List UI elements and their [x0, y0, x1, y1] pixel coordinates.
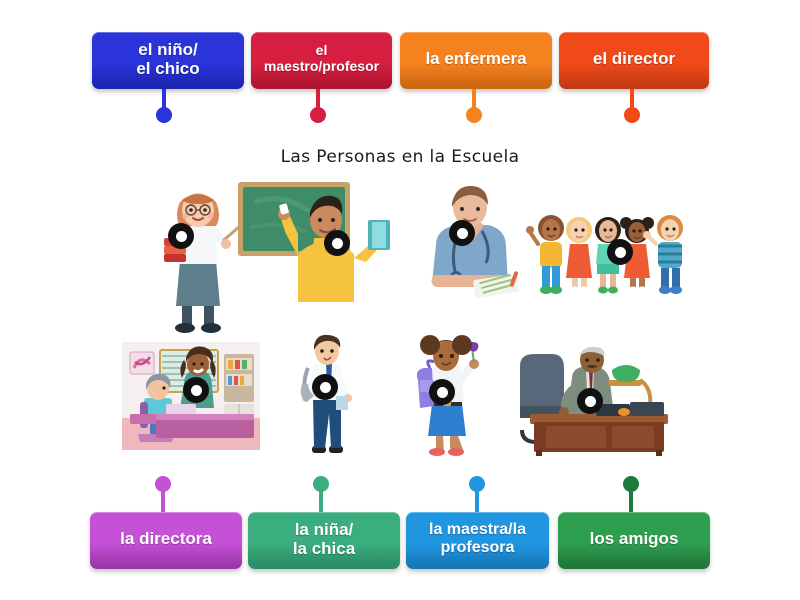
connector-pin-el-director	[624, 89, 640, 123]
marker-director-male[interactable]	[577, 388, 603, 414]
marker-nurse[interactable]	[449, 220, 475, 246]
label-chip-la-maestra-profesora[interactable]: la maestra/la profesora	[406, 512, 549, 569]
illustration-nurse	[412, 183, 532, 303]
connector-pin-los-amigos	[623, 476, 639, 512]
marker-principal-female[interactable]	[183, 377, 209, 403]
labelled-diagram-activity: Las Personas en la Escuela el niño/ el c…	[0, 0, 800, 600]
page-title: Las Personas en la Escuela	[0, 147, 800, 167]
connector-pin-el-maestro-profesor	[310, 89, 326, 123]
label-chip-text: la niña/ la chica	[293, 520, 355, 558]
label-chip-el-director[interactable]: el director	[559, 32, 709, 89]
label-chip-el-nino-el-chico[interactable]: el niño/ el chico	[92, 32, 244, 89]
label-chip-text: los amigos	[590, 529, 679, 548]
label-chip-la-nina-la-chica[interactable]: la niña/ la chica	[248, 512, 400, 569]
marker-teacher-female[interactable]	[168, 223, 194, 249]
label-chip-text: la directora	[120, 529, 212, 548]
label-chip-text: el maestro/profesor	[264, 43, 379, 74]
marker-girl[interactable]	[429, 379, 455, 405]
connector-pin-la-directora	[155, 476, 171, 512]
label-chip-text: la maestra/la profesora	[429, 521, 526, 557]
connector-pin-la-nina-la-chica	[313, 476, 329, 512]
marker-friends[interactable]	[607, 239, 633, 265]
label-chip-text: el niño/ el chico	[136, 40, 199, 78]
illustration-male-teacher	[236, 180, 396, 305]
label-chip-el-maestro-profesor[interactable]: el maestro/profesor	[251, 32, 392, 89]
label-chip-la-directora[interactable]: la directora	[90, 512, 242, 569]
label-chip-text: el director	[593, 49, 675, 68]
marker-teacher-male[interactable]	[324, 230, 350, 256]
label-chip-text: la enfermera	[425, 49, 526, 68]
connector-pin-la-enfermera	[466, 89, 482, 123]
label-chip-los-amigos[interactable]: los amigos	[558, 512, 710, 569]
connector-pin-el-nino-el-chico	[156, 89, 172, 123]
marker-boy[interactable]	[312, 374, 338, 400]
illustration-female-teacher	[152, 182, 244, 334]
label-chip-la-enfermera[interactable]: la enfermera	[400, 32, 552, 89]
connector-pin-la-maestra-profesora	[469, 476, 485, 512]
